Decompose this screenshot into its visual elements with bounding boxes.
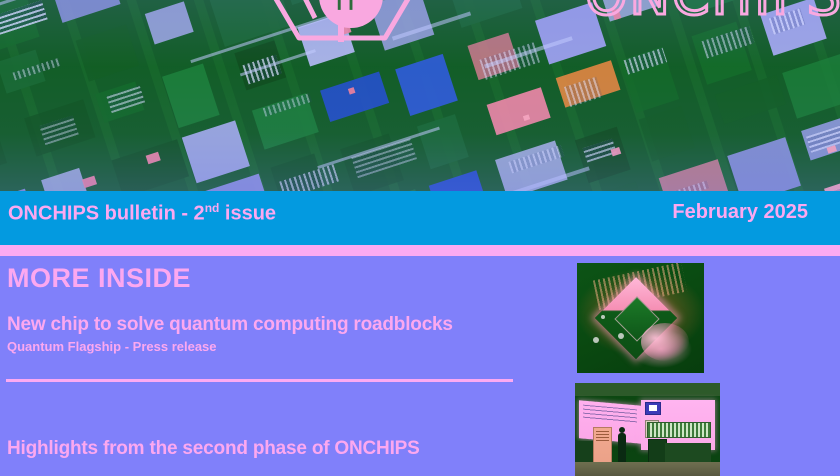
onchips-logo: e h + ONCHIPS xyxy=(237,0,837,72)
article-2-thumbnail xyxy=(575,383,720,476)
board-speck xyxy=(601,315,605,319)
article-1-title[interactable]: New chip to solve quantum computing road… xyxy=(7,314,453,336)
article-divider xyxy=(6,379,513,382)
article-1-thumbnail xyxy=(577,263,704,373)
room-floor xyxy=(575,462,720,476)
bulletin-title-prefix: ONCHIPS bulletin - 2 xyxy=(8,203,205,225)
board-speck xyxy=(593,337,599,343)
chip-glow-detail xyxy=(641,323,689,361)
bulletin-date: February 2025 xyxy=(672,201,808,224)
logo-wordmark: ONCHIPS xyxy=(585,0,840,27)
hole-label: h xyxy=(335,0,355,18)
bulletin-bar: ONCHIPS bulletin - 2nd issue February 20… xyxy=(0,191,840,245)
bulletin-title: ONCHIPS bulletin - 2nd issue xyxy=(8,201,276,226)
newsletter-page: e h + ONCHIPS ONCHIPS bulletin - 2nd iss… xyxy=(0,0,840,476)
article-2-title[interactable]: Highlights from the second phase of ONCH… xyxy=(7,438,420,460)
room-ceiling xyxy=(575,383,720,396)
slide-logo-block xyxy=(645,402,661,415)
slide-chart-strip xyxy=(647,422,711,438)
presenter-figure xyxy=(618,433,626,465)
board-speck xyxy=(618,333,624,339)
slide-text-lines xyxy=(583,405,637,424)
section-heading-more-inside: MORE INSIDE xyxy=(7,263,191,294)
hole-charge-label: + xyxy=(360,0,376,1)
bulletin-title-suffix: issue xyxy=(219,203,276,225)
article-1-subtitle: Quantum Flagship - Press release xyxy=(7,339,217,354)
bulletin-title-ordinal: nd xyxy=(205,201,220,215)
header-hero-banner: e h + ONCHIPS xyxy=(0,0,840,191)
pink-separator-strip xyxy=(0,245,840,256)
